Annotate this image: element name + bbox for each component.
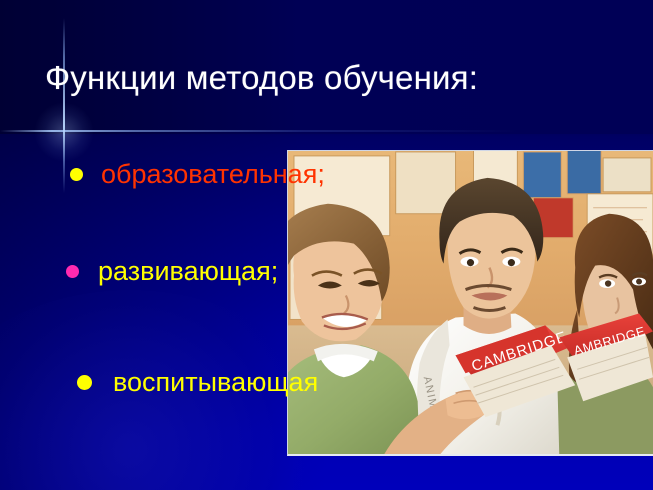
classroom-photo: ANIMAL	[287, 150, 653, 456]
bullet-item-3: воспитывающая	[77, 366, 318, 398]
cross-star-vertical-ray	[63, 18, 65, 193]
bullet-label-2: развивающая;	[98, 255, 278, 287]
bullet-dot-icon	[70, 168, 83, 181]
classroom-photo-illustration: ANIMAL	[288, 151, 653, 454]
bullet-label-1: образовательная;	[101, 158, 325, 190]
cross-star-horizontal-ray	[0, 130, 520, 132]
slide-title: Функции методов обучения:	[45, 58, 478, 98]
presentation-slide: Функции методов обучения:	[0, 0, 653, 490]
bullet-dot-icon	[66, 265, 79, 278]
bullet-dot-icon	[77, 375, 92, 390]
bullet-item-1: образовательная;	[70, 158, 325, 190]
bullet-item-2: развивающая;	[66, 255, 278, 287]
bullet-label-3: воспитывающая	[113, 366, 318, 398]
